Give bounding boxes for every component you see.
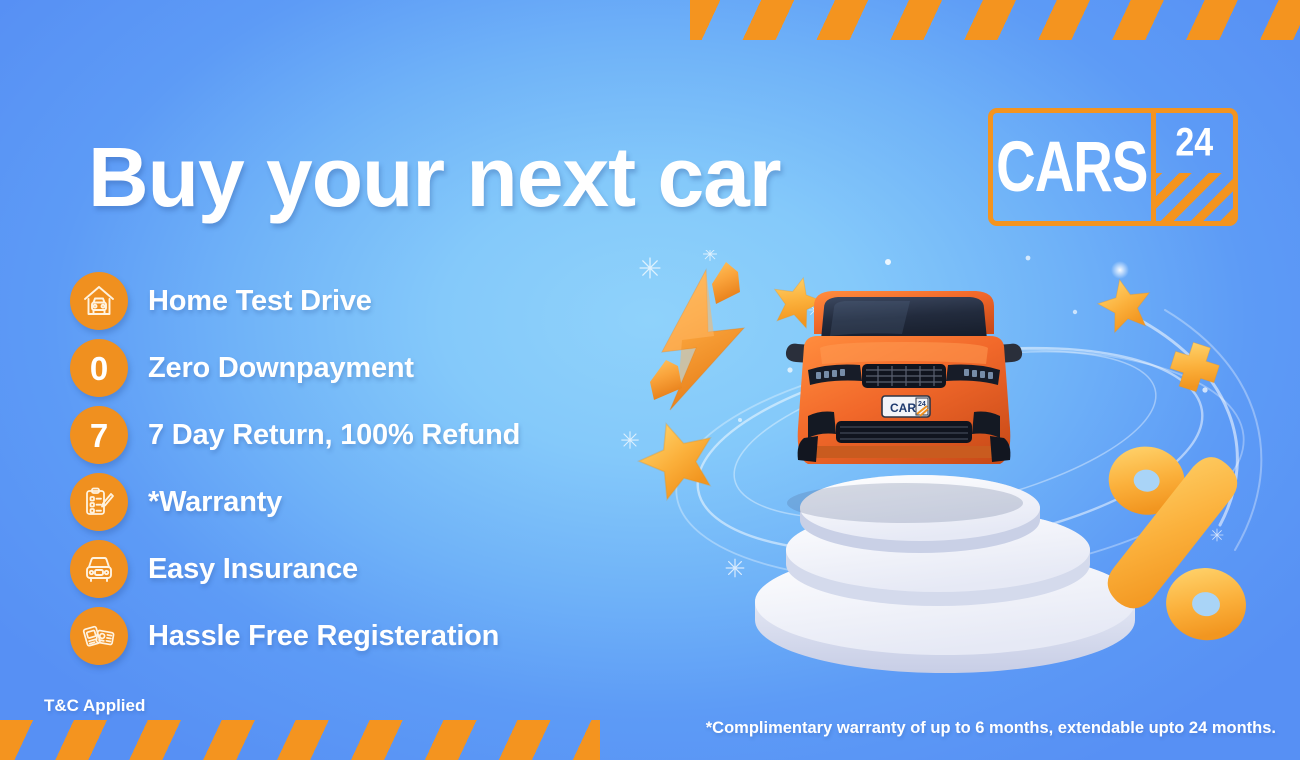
star-3d-right-icon <box>1094 274 1156 334</box>
feature-item-hassle-free-registration: Hassle Free Registeration <box>70 607 520 665</box>
terms-conditions-note: T&C Applied <box>44 696 145 716</box>
cars24-logo: CARS 24 <box>988 108 1238 226</box>
feature-label: Home Test Drive <box>148 285 372 318</box>
hero-illustration: CARS 24 <box>620 250 1300 680</box>
feature-label: *Warranty <box>148 486 282 519</box>
logo-word-cell: CARS <box>993 113 1156 221</box>
clipboard-pen-icon <box>70 473 128 531</box>
home-car-icon <box>70 272 128 330</box>
warranty-disclaimer: *Complimentary warranty of up to 6 month… <box>706 719 1276 738</box>
lightning-bolt-3d-icon <box>650 262 744 410</box>
star-3d-left-icon <box>631 412 725 504</box>
bottom-diagonal-stripes <box>0 720 600 760</box>
feature-item-seven-day-return: 7 7 Day Return, 100% Refund <box>70 406 520 464</box>
car-shadow <box>787 483 1023 523</box>
logo-wordmark: CARS <box>996 131 1147 203</box>
feature-label: Hassle Free Registeration <box>148 620 499 653</box>
feature-item-warranty: *Warranty <box>70 473 520 531</box>
feature-list: Home Test Drive 0 Zero Downpayment 7 7 D… <box>70 272 520 665</box>
advertisement-banner: Buy your next car CARS 24 <box>0 0 1300 760</box>
feature-item-zero-downpayment: 0 Zero Downpayment <box>70 339 520 397</box>
feature-item-home-test-drive: Home Test Drive <box>70 272 520 330</box>
top-diagonal-stripes <box>690 0 1300 40</box>
logo-number: 24 <box>1156 108 1233 178</box>
feature-label: Zero Downpayment <box>148 352 414 385</box>
license-plate-icon: CARS 24 <box>882 396 930 417</box>
page-title: Buy your next car <box>88 133 781 221</box>
documents-icon <box>70 607 128 665</box>
hero-scene-svg: CARS 24 <box>620 250 1300 680</box>
logo-hatch-stripes-icon <box>1156 173 1233 221</box>
feature-label: Easy Insurance <box>148 553 358 586</box>
orange-suv-icon: CARS 24 <box>786 291 1022 464</box>
feature-label: 7 Day Return, 100% Refund <box>148 419 520 452</box>
feature-item-easy-insurance: Easy Insurance <box>70 540 520 598</box>
seven-number-icon: 7 <box>70 406 128 464</box>
zero-number-icon: 0 <box>70 339 128 397</box>
car-front-icon <box>70 540 128 598</box>
logo-right-cell: 24 <box>1156 113 1233 221</box>
